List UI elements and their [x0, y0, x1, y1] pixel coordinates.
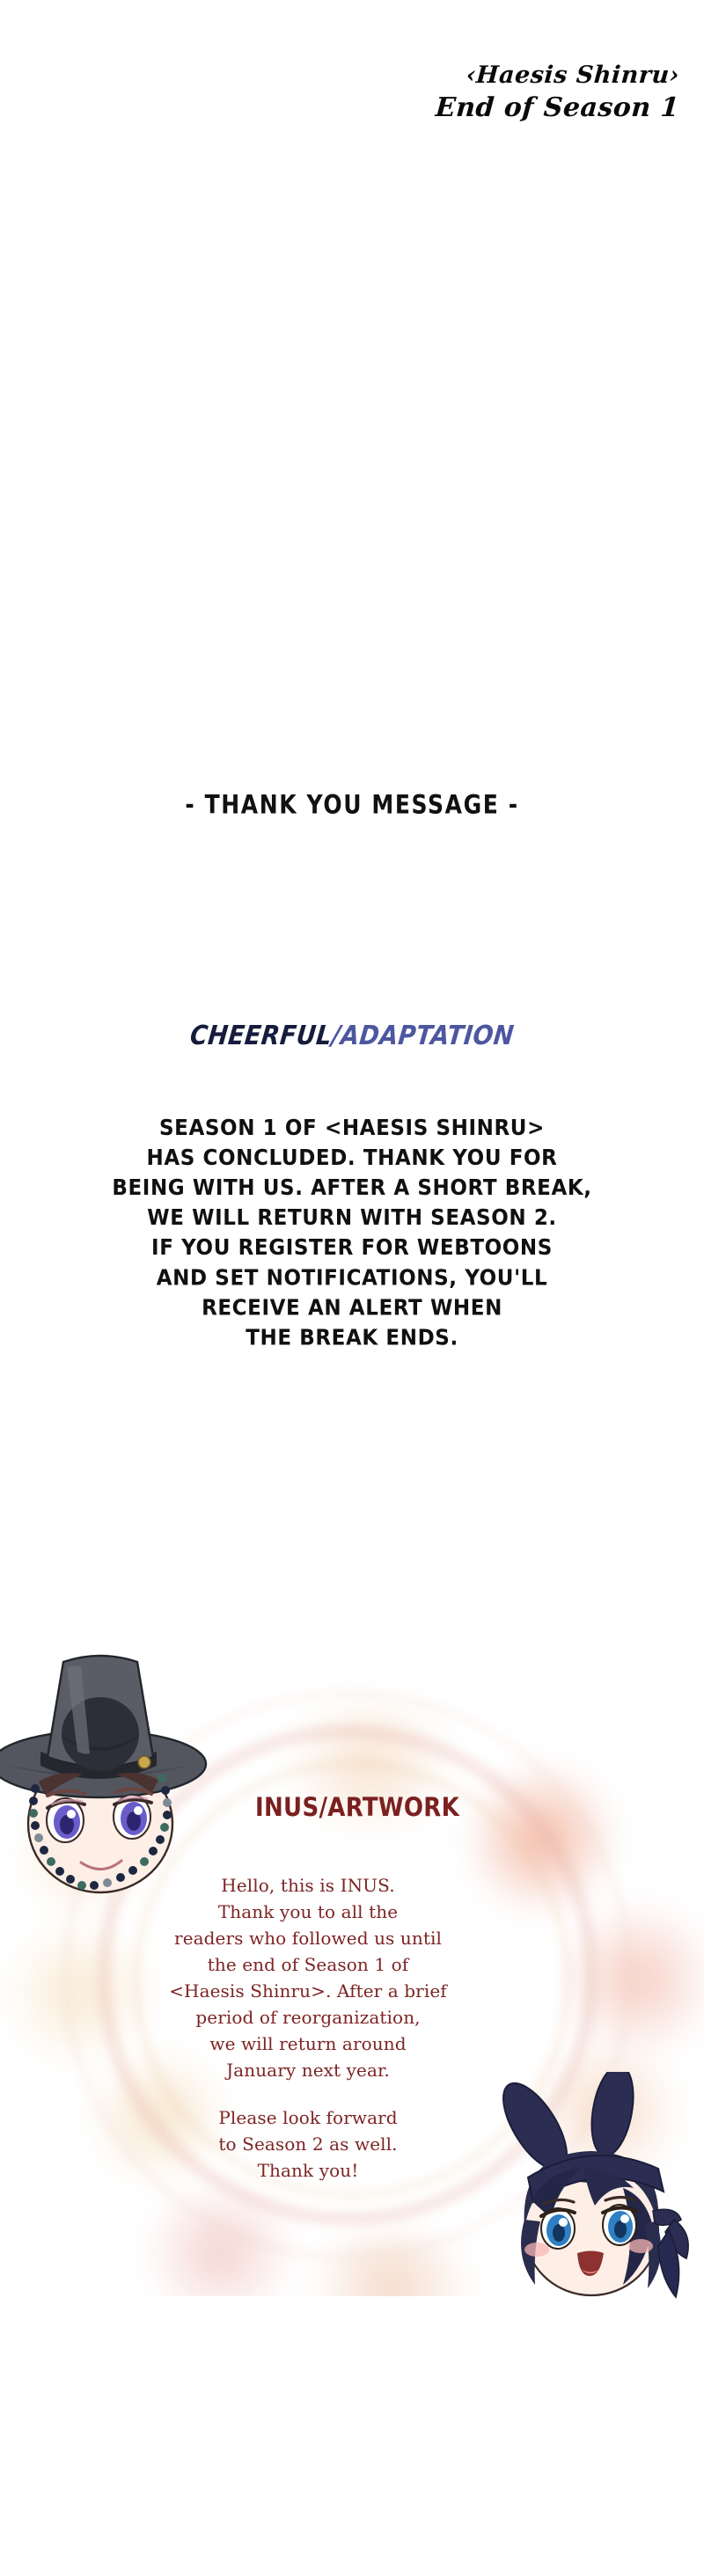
note-line: the end of Season 1 of: [114, 1951, 502, 1978]
note-line: readers who followed us until: [114, 1925, 502, 1951]
character-headband-girl: [493, 2072, 700, 2327]
announcement-line: IF YOU REGISTER FOR WEBTOONS: [0, 1233, 704, 1263]
announcement-line: SEASON 1 OF <HAESIS SHINRU>: [0, 1114, 704, 1144]
watercolor-wash: [563, 1892, 704, 2067]
studio-credit-secondary: /ADAPTATION: [330, 1021, 516, 1051]
series-header: ‹Haesis Shinru› End of Season 1: [222, 62, 679, 125]
studio-credit: CHEERFUL/ADAPTATION: [0, 1021, 704, 1051]
watercolor-wash: [132, 2191, 308, 2296]
announcement-paragraph: SEASON 1 OF <HAESIS SHINRU> HAS CONCLUDE…: [0, 1114, 704, 1354]
thank-you-message-heading: - THANK YOU MESSAGE -: [0, 789, 704, 819]
announcement-line: RECEIVE AN ALERT WHEN: [0, 1293, 704, 1323]
announcement-line: THE BREAK ENDS.: [0, 1323, 704, 1353]
note-closing-line: Thank you!: [114, 2157, 502, 2184]
note-line: <Haesis Shinru>. After a brief: [114, 1978, 502, 2004]
artist-credit-label: INUS/ARTWORK: [255, 1793, 459, 1823]
note-line: January next year.: [114, 2057, 502, 2083]
note-closing-line: Please look forward: [114, 2104, 502, 2131]
watercolor-wash: [290, 2235, 493, 2296]
announcement-line: BEING WITH US. AFTER A SHORT BREAK,: [0, 1174, 704, 1204]
studio-credit-primary: CHEERFUL: [188, 1021, 334, 1051]
note-line: period of reorganization,: [114, 2004, 502, 2031]
note-line: Hello, this is INUS.: [114, 1872, 502, 1899]
artist-handwritten-note: Hello, this is INUS. Thank you to all th…: [114, 1872, 502, 2184]
announcement-line: WE WILL RETURN WITH SEASON 2.: [0, 1204, 704, 1233]
series-title: ‹Haesis Shinru›: [221, 62, 680, 91]
note-closing-line: to Season 2 as well.: [114, 2131, 502, 2157]
webtoon-end-of-season-page: ‹Haesis Shinru› End of Season 1 - THANK …: [0, 0, 704, 2576]
note-line: Thank you to all the: [114, 1899, 502, 1925]
season-end-subtitle: End of Season 1: [221, 92, 681, 125]
announcement-line: AND SET NOTIFICATIONS, YOU'LL: [0, 1263, 704, 1293]
announcement-line: HAS CONCLUDED. THANK YOU FOR: [0, 1144, 704, 1174]
note-spacer: [114, 2083, 502, 2104]
note-line: we will return around: [114, 2031, 502, 2057]
